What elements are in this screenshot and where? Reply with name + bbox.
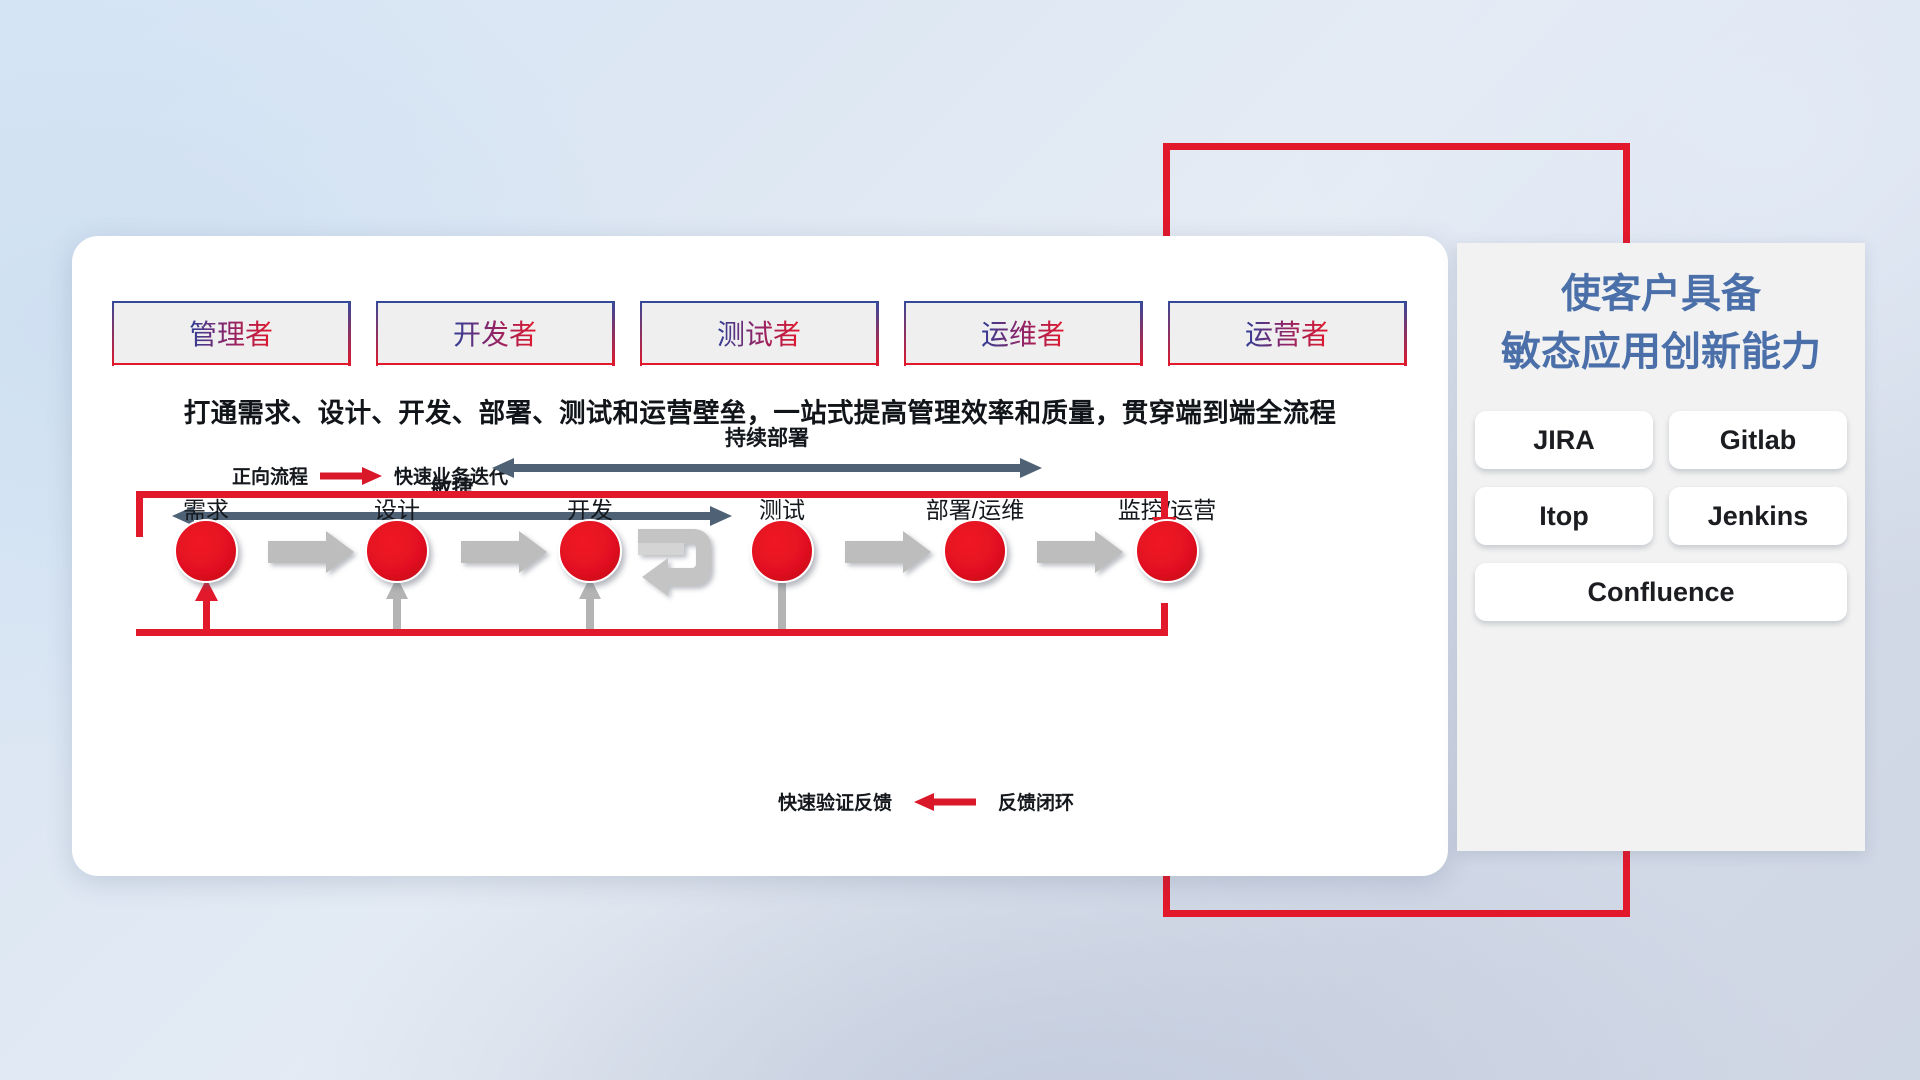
legend-forward-left-label: 正向流程 — [232, 462, 308, 489]
role-label: 运营者 — [1245, 313, 1329, 353]
arrow-right-gray-icon — [845, 531, 931, 573]
role-box-3[interactable]: 运维者 — [906, 301, 1140, 365]
outcome-panel-heading: 使客户具备 敏态应用创新能力 — [1457, 243, 1865, 381]
role-box-2[interactable]: 测试者 — [642, 301, 876, 365]
tool-pill-confluence[interactable]: Confluence — [1475, 563, 1847, 621]
legend-feedback-left-label: 快速验证反馈 — [778, 788, 892, 815]
arrow-right-gray-icon — [268, 531, 354, 573]
pipeline-svg — [72, 491, 1448, 681]
role-box-1[interactable]: 开发者 — [378, 301, 612, 365]
role-label: 测试者 — [717, 313, 801, 353]
arrow-right-red-icon — [320, 466, 382, 486]
role-label: 运维者 — [981, 313, 1065, 353]
arrow-left-red-icon — [914, 792, 976, 812]
outcome-heading-line1: 使客户具备 — [1457, 265, 1865, 323]
pipeline-diagram: 需求 设计 开发 测试 部署/运维 监控/运营 — [72, 491, 1448, 681]
role-box-4[interactable]: 运营者 — [1170, 301, 1404, 365]
outcome-heading-line2: 敏态应用创新能力 — [1457, 323, 1865, 381]
role-box-0[interactable]: 管理者 — [114, 301, 348, 365]
role-boxes-row: 管理者 开发者 测试者 运维者 运营者 — [114, 301, 1404, 365]
outcome-panel: 使客户具备 敏态应用创新能力 JIRA Gitlab Itop Jenkins … — [1457, 243, 1865, 851]
main-diagram-card: 管理者 开发者 测试者 运维者 运营者 打通需求、设计、开发、部署、测试和运营壁… — [72, 236, 1448, 876]
loop-back-arrow-icon — [638, 529, 718, 596]
arrow-right-gray-icon — [461, 531, 547, 573]
tool-pill-gitlab[interactable]: Gitlab — [1669, 411, 1847, 469]
tool-pill-list: JIRA Gitlab Itop Jenkins Confluence — [1475, 411, 1847, 621]
legend-feedback-loop: 快速验证反馈 反馈闭环 — [778, 788, 1074, 815]
tool-pill-itop[interactable]: Itop — [1475, 487, 1653, 545]
tool-pill-jenkins[interactable]: Jenkins — [1669, 487, 1847, 545]
double-arrow-slate-icon — [492, 456, 1042, 480]
role-label: 开发者 — [453, 313, 537, 353]
arrow-right-gray-icon — [1037, 531, 1123, 573]
continuous-deployment-label: 持续部署 — [725, 422, 809, 452]
tool-pill-jira[interactable]: JIRA — [1475, 411, 1653, 469]
legend-feedback-right-label: 反馈闭环 — [998, 788, 1074, 815]
role-label: 管理者 — [189, 313, 273, 353]
